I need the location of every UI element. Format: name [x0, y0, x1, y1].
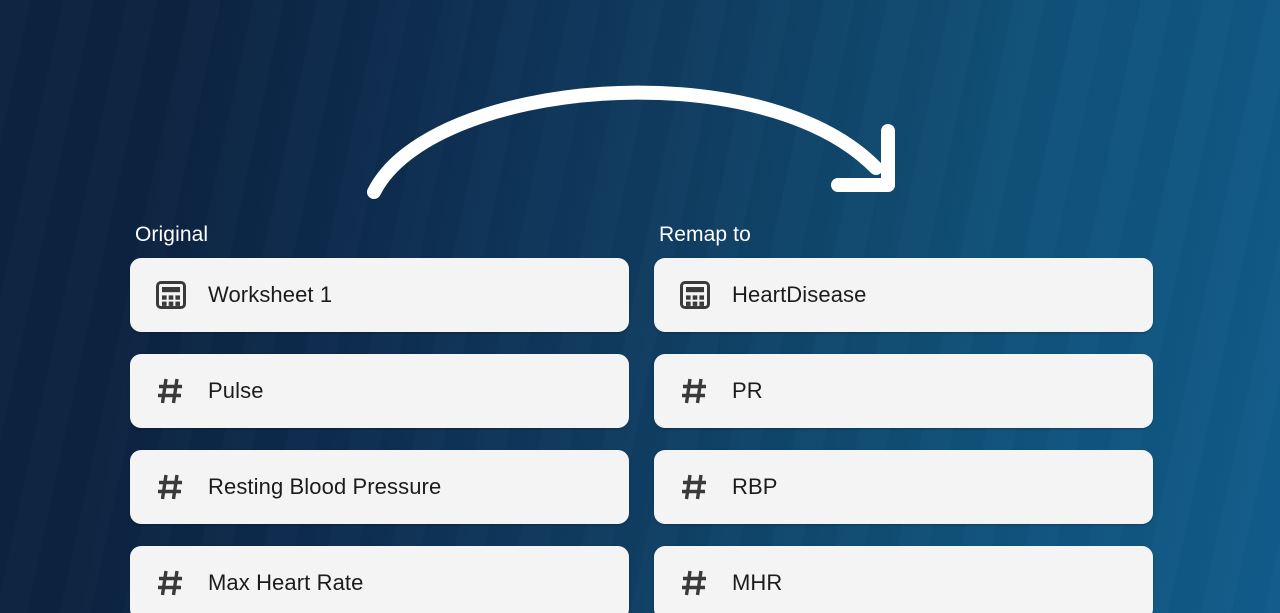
- original-row-label: Resting Blood Pressure: [208, 474, 441, 500]
- original-row-worksheet[interactable]: Worksheet 1: [130, 258, 629, 332]
- remap-row-rbp[interactable]: RBP: [654, 450, 1153, 524]
- remap-row-mhr[interactable]: MHR: [654, 546, 1153, 613]
- hash-icon: [154, 470, 188, 504]
- original-row-max-hr[interactable]: Max Heart Rate: [130, 546, 629, 613]
- original-row-label: Max Heart Rate: [208, 570, 363, 596]
- table-icon: [678, 278, 712, 312]
- table-icon: [154, 278, 188, 312]
- remap-column-header: Remap to: [659, 222, 1153, 248]
- remap-row-heartdisease[interactable]: HeartDisease: [654, 258, 1153, 332]
- remap-column: Remap to HeartDisease: [654, 222, 1153, 613]
- remap-row-label: HeartDisease: [732, 282, 866, 308]
- remap-row-pr[interactable]: PR: [654, 354, 1153, 428]
- original-row-pulse[interactable]: Pulse: [130, 354, 629, 428]
- original-column-header: Original: [135, 222, 629, 248]
- hash-icon: [678, 566, 712, 600]
- original-column: Original Worksheet 1: [130, 222, 629, 613]
- remap-illustration: Original Worksheet 1: [0, 0, 1280, 613]
- original-row-label: Pulse: [208, 378, 264, 404]
- remap-row-label: PR: [732, 378, 763, 404]
- original-row-resting-bp[interactable]: Resting Blood Pressure: [130, 450, 629, 524]
- remap-row-label: MHR: [732, 570, 782, 596]
- hash-icon: [154, 566, 188, 600]
- hash-icon: [678, 470, 712, 504]
- hash-icon: [678, 374, 712, 408]
- hash-icon: [154, 374, 188, 408]
- remap-row-label: RBP: [732, 474, 778, 500]
- original-row-label: Worksheet 1: [208, 282, 332, 308]
